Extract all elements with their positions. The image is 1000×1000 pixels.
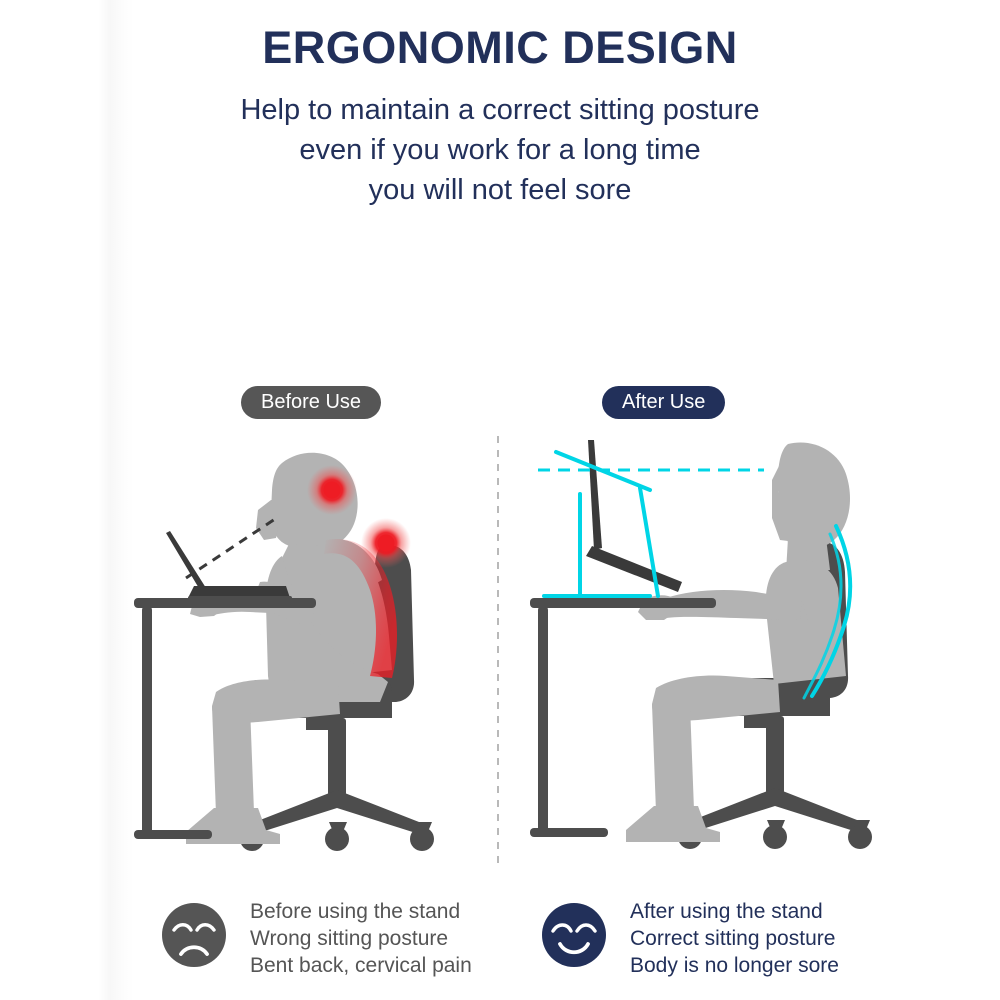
person-silhouette-upright — [626, 442, 850, 842]
caption-after-use: After using the stand Correct sitting po… — [540, 898, 839, 979]
pain-marker-back — [361, 518, 411, 568]
person-silhouette-slouching — [186, 453, 392, 844]
badge-before-use-label: Before Use — [261, 391, 361, 414]
badge-before-use: Before Use — [241, 386, 381, 419]
caption-before-use: Before using the stand Wrong sitting pos… — [160, 898, 472, 979]
caption-after-line-2: Correct sitting posture — [630, 925, 839, 952]
caption-before-text: Before using the stand Wrong sitting pos… — [250, 898, 472, 979]
caption-before-line-1: Before using the stand — [250, 898, 472, 925]
caption-after-text: After using the stand Correct sitting po… — [630, 898, 839, 979]
laptop-on-stand — [586, 440, 682, 592]
illustration-before-use — [130, 430, 500, 880]
happy-face-icon — [540, 901, 608, 969]
caption-before-line-3: Bent back, cervical pain — [250, 952, 472, 979]
header: ERGONOMIC DESIGN Help to maintain a corr… — [0, 0, 1000, 210]
page-title: ERGONOMIC DESIGN — [0, 20, 1000, 76]
badge-after-use-label: After Use — [622, 391, 705, 414]
pain-marker-neck — [307, 465, 357, 515]
infographic-page: ERGONOMIC DESIGN Help to maintain a corr… — [0, 0, 1000, 1000]
sad-face-icon — [160, 901, 228, 969]
badge-after-use: After Use — [602, 386, 725, 419]
page-subtitle: Help to maintain a correct sitting postu… — [0, 90, 1000, 210]
caption-after-line-1: After using the stand — [630, 898, 839, 925]
illustration-after-use — [520, 430, 900, 880]
subtitle-line-2: even if you work for a long time — [0, 130, 1000, 170]
caption-before-line-2: Wrong sitting posture — [250, 925, 472, 952]
caption-after-line-3: Body is no longer sore — [630, 952, 839, 979]
subtitle-line-1: Help to maintain a correct sitting postu… — [0, 90, 1000, 130]
subtitle-line-3: you will not feel sore — [0, 170, 1000, 210]
